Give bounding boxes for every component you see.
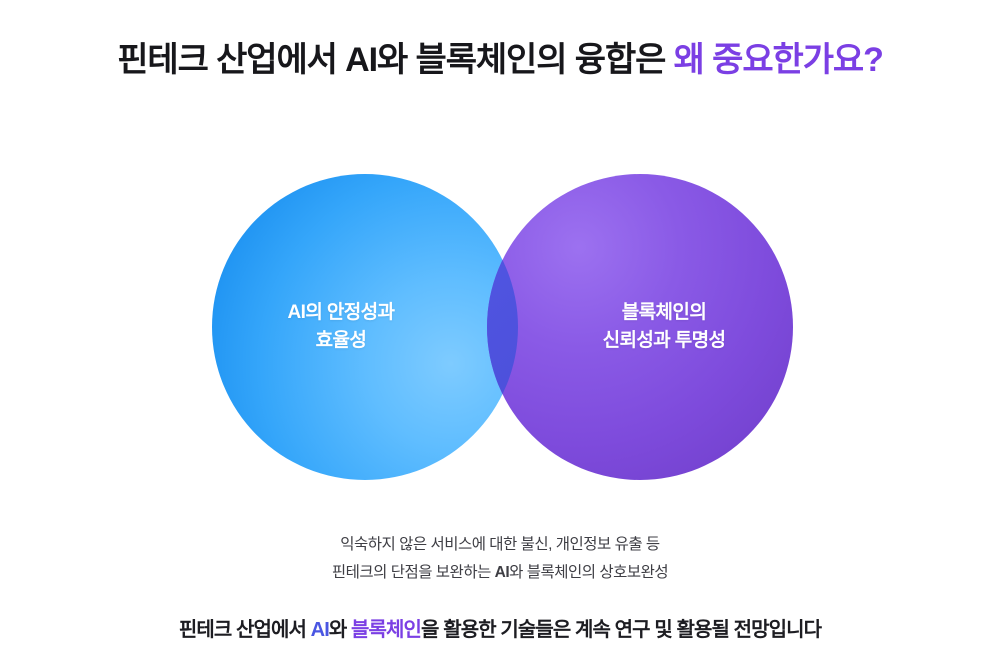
page-title-accent: 왜 중요한가요?: [674, 41, 883, 79]
slide-canvas: 핀테크 산업에서 AI와 블록체인의 융합은 왜 중요한가요? AI의 안정성: [0, 0, 1000, 666]
conclusion-blockchain-highlight: 블록체인: [351, 619, 421, 641]
conclusion-part-3: 와: [329, 619, 351, 641]
venn-diagram: AI의 안정성과 효율성 블록체인의 신뢰성과 투명성: [212, 174, 793, 480]
caption-line-2-part-a: 핀테크의 단점을 보완하는: [332, 564, 495, 581]
caption-line-2-part-b: AI: [495, 564, 510, 581]
caption-block: 익숙하지 않은 서비스에 대한 불신, 개인정보 유출 등 핀테크의 단점을 보…: [0, 531, 1000, 586]
venn-label-ai: AI의 안정성과 효율성: [188, 174, 494, 480]
venn-label-ai-line2: 효율성: [316, 327, 367, 356]
page-title: 핀테크 산업에서 AI와 블록체인의 융합은 왜 중요한가요?: [0, 32, 1000, 81]
caption-line-2: 핀테크의 단점을 보완하는 AI와 블록체인의 상호보완성: [0, 559, 1000, 587]
conclusion-part-5: 을 활용한 기술들은 계속 연구 및 활용될 전망입니다: [421, 619, 821, 641]
venn-label-blockchain-line1: 블록체인의: [622, 299, 706, 328]
page-title-main: 핀테크 산업에서 AI와 블록체인의 융합은: [117, 41, 673, 79]
venn-label-blockchain: 블록체인의 신뢰성과 투명성: [511, 174, 817, 480]
venn-label-blockchain-line2: 신뢰성과 투명성: [603, 327, 726, 356]
caption-line-2-part-c: 와 블록체인의 상호보완성: [509, 564, 668, 581]
conclusion-part-1: 핀테크 산업에서: [179, 619, 311, 641]
caption-line-1: 익숙하지 않은 서비스에 대한 불신, 개인정보 유출 등: [0, 531, 1000, 559]
conclusion-ai-highlight: AI: [311, 619, 329, 641]
venn-label-ai-line1: AI의 안정성과: [288, 299, 395, 328]
conclusion-line: 핀테크 산업에서 AI와 블록체인을 활용한 기술들은 계속 연구 및 활용될 …: [0, 613, 1000, 642]
